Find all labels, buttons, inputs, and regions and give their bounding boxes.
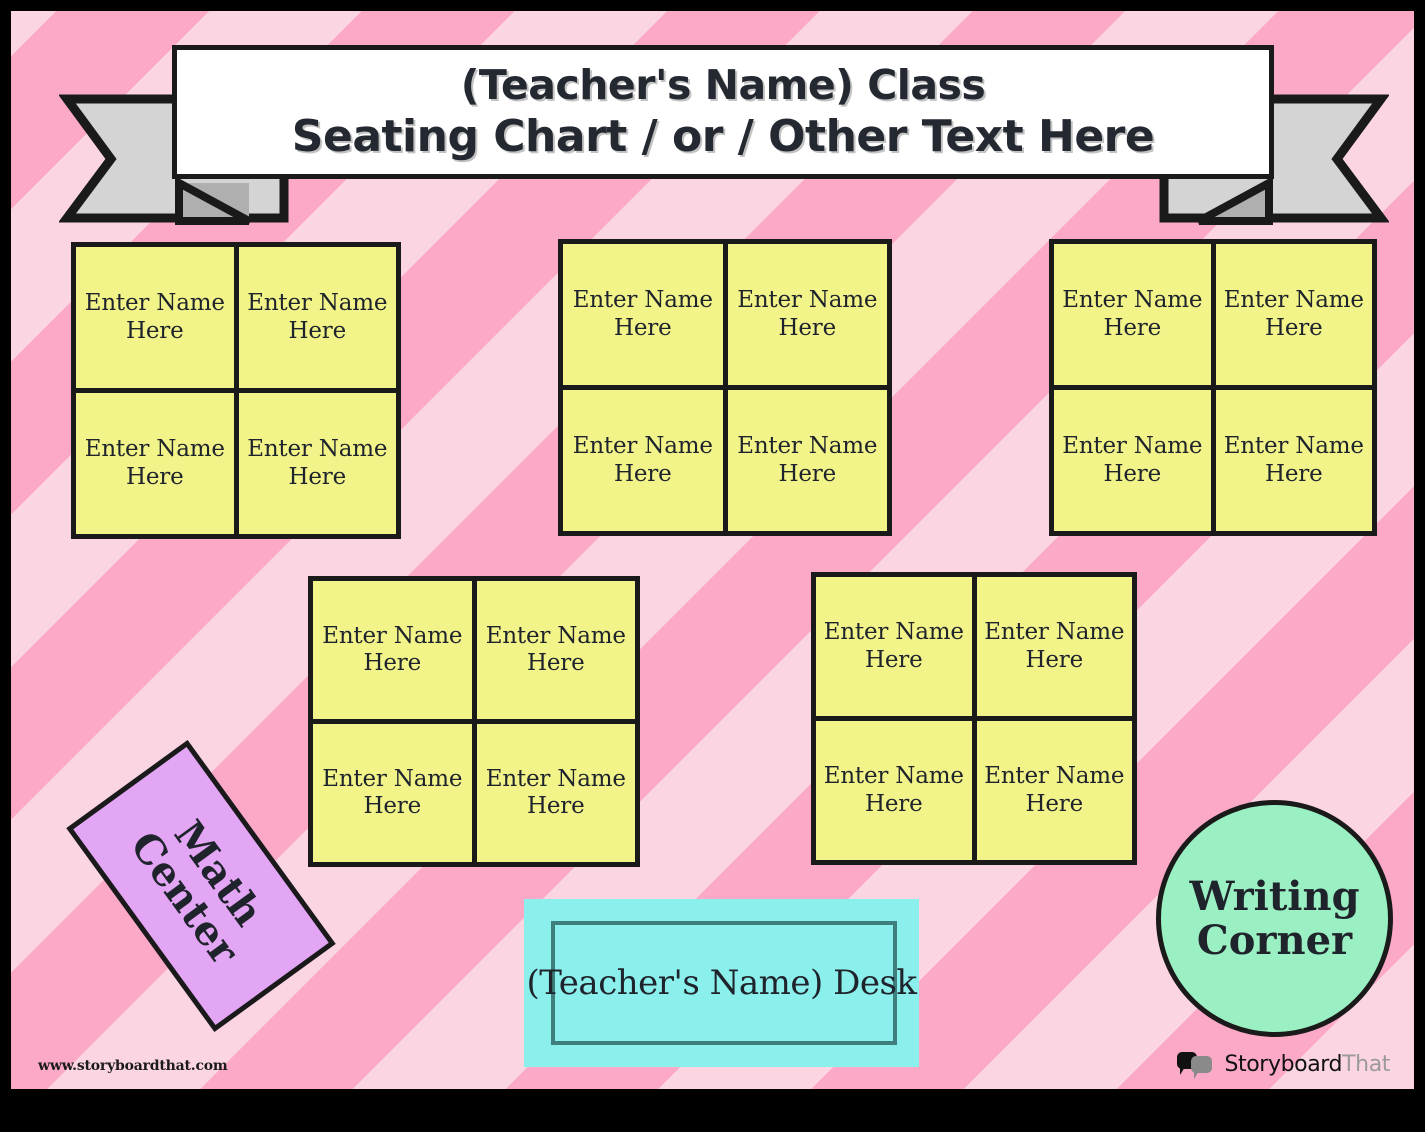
banner-title-line-1: (Teacher's Name) Class <box>461 65 986 106</box>
desk-name-label: Enter Name Here <box>76 436 234 490</box>
student-desk[interactable]: Enter Name Here <box>563 390 723 531</box>
teacher-desk-zone[interactable]: (Teacher's Name) Desk <box>524 899 919 1067</box>
desk-name-label: Enter Name Here <box>313 623 472 677</box>
speech-bubble-front-tail <box>1194 1071 1199 1079</box>
desk-name-label: Enter Name Here <box>76 290 234 344</box>
desk-name-label: Enter Name Here <box>816 763 972 817</box>
writing-corner-label: Writing Corner <box>1189 875 1359 963</box>
desk-name-label: Enter Name Here <box>563 433 723 487</box>
writing-corner-zone[interactable]: Writing Corner <box>1156 800 1393 1037</box>
student-desk[interactable]: Enter Name Here <box>977 721 1133 860</box>
student-desk[interactable]: Enter Name Here <box>477 581 636 719</box>
desk-name-label: Enter Name Here <box>977 619 1133 673</box>
desk-name-label: Enter Name Here <box>239 290 397 344</box>
desk-pod: Enter Name Here Enter Name Here Enter Na… <box>71 242 401 539</box>
desk-pod: Enter Name Here Enter Name Here Enter Na… <box>558 239 892 536</box>
poster-canvas: (Teacher's Name) Class Seating Chart / o… <box>11 11 1414 1089</box>
banner-title-panel: (Teacher's Name) Class Seating Chart / o… <box>172 45 1274 179</box>
desk-name-label: Enter Name Here <box>1054 287 1211 341</box>
student-desk[interactable]: Enter Name Here <box>313 581 472 719</box>
desk-name-label: Enter Name Here <box>239 436 397 490</box>
desk-name-label: Enter Name Here <box>728 287 888 341</box>
logo-word-that: That <box>1342 1052 1390 1077</box>
desk-pod: Enter Name Here Enter Name Here Enter Na… <box>1049 239 1377 536</box>
speech-bubbles-icon <box>1177 1051 1217 1077</box>
student-desk[interactable]: Enter Name Here <box>239 247 397 388</box>
logo-word-storyboard: Storyboard <box>1224 1052 1342 1077</box>
student-desk[interactable]: Enter Name Here <box>816 721 972 860</box>
footer-website-url: www.storyboardthat.com <box>38 1058 228 1074</box>
desk-name-label: Enter Name Here <box>1216 433 1373 487</box>
desk-name-label: Enter Name Here <box>1054 433 1211 487</box>
title-banner: (Teacher's Name) Class Seating Chart / o… <box>59 41 1389 206</box>
banner-title-line-2: Seating Chart / or / Other Text Here <box>292 115 1154 159</box>
speech-bubble-back-tail <box>1180 1067 1185 1075</box>
student-desk[interactable]: Enter Name Here <box>1216 244 1373 385</box>
logo-wordmark: StoryboardThat <box>1224 1052 1390 1077</box>
student-desk[interactable]: Enter Name Here <box>477 724 636 862</box>
student-desk[interactable]: Enter Name Here <box>977 577 1133 716</box>
student-desk[interactable]: Enter Name Here <box>563 244 723 385</box>
desk-name-label: Enter Name Here <box>477 766 636 820</box>
student-desk[interactable]: Enter Name Here <box>1054 244 1211 385</box>
seating-chart-poster: (Teacher's Name) Class Seating Chart / o… <box>0 0 1425 1132</box>
desk-pod: Enter Name Here Enter Name Here Enter Na… <box>308 576 640 867</box>
teacher-desk-label: (Teacher's Name) Desk <box>527 963 917 1003</box>
desk-name-label: Enter Name Here <box>1216 287 1373 341</box>
student-desk[interactable]: Enter Name Here <box>76 247 234 388</box>
desk-name-label: Enter Name Here <box>977 763 1133 817</box>
student-desk[interactable]: Enter Name Here <box>728 390 888 531</box>
student-desk[interactable]: Enter Name Here <box>816 577 972 716</box>
student-desk[interactable]: Enter Name Here <box>76 393 234 534</box>
student-desk[interactable]: Enter Name Here <box>239 393 397 534</box>
storyboardthat-logo: StoryboardThat <box>1177 1051 1390 1077</box>
desk-name-label: Enter Name Here <box>313 766 472 820</box>
desk-name-label: Enter Name Here <box>477 623 636 677</box>
desk-name-label: Enter Name Here <box>728 433 888 487</box>
student-desk[interactable]: Enter Name Here <box>313 724 472 862</box>
student-desk[interactable]: Enter Name Here <box>728 244 888 385</box>
student-desk[interactable]: Enter Name Here <box>1054 390 1211 531</box>
desk-name-label: Enter Name Here <box>816 619 972 673</box>
desk-pod: Enter Name Here Enter Name Here Enter Na… <box>811 572 1137 865</box>
student-desk[interactable]: Enter Name Here <box>1216 390 1373 531</box>
desk-name-label: Enter Name Here <box>563 287 723 341</box>
